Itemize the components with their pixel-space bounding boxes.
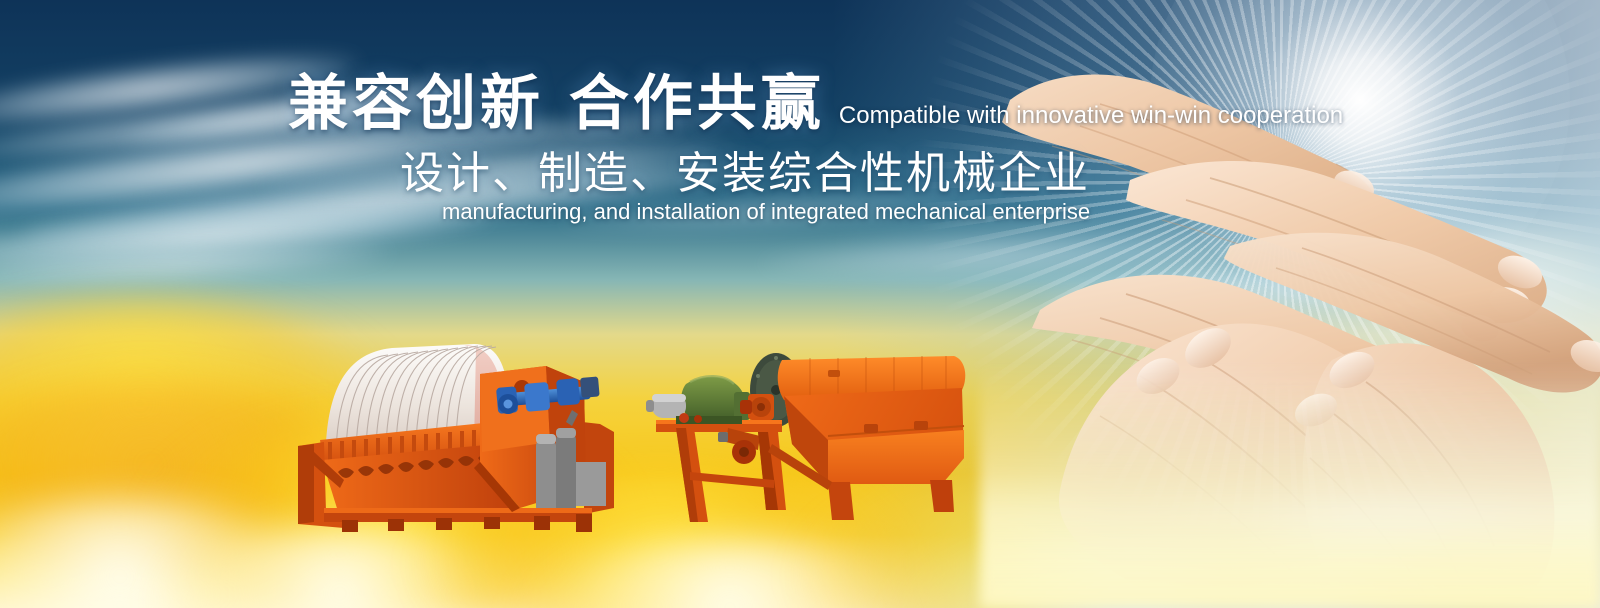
hero-banner: 兼容创新 合作共赢 Compatible with innovative win…	[0, 0, 1600, 608]
magnetic-separator-image	[632, 332, 972, 524]
hand-cloud-fade	[980, 360, 1600, 608]
headline-chinese: 兼容创新 合作共赢	[288, 74, 825, 134]
subheadline-english: manufacturing, and installation of integ…	[442, 201, 1090, 223]
subheadline-chinese: 设计、制造、安装综合性机械企业	[400, 152, 1090, 196]
banner-text-block: 兼容创新 合作共赢 Compatible with innovative win…	[0, 0, 1240, 260]
ceramic-disc-vacuum-filter-image	[284, 312, 630, 544]
headline-row: 兼容创新 合作共赢 Compatible with innovative win…	[288, 74, 1343, 134]
headline-english: Compatible with innovative win-win coope…	[839, 104, 1343, 134]
